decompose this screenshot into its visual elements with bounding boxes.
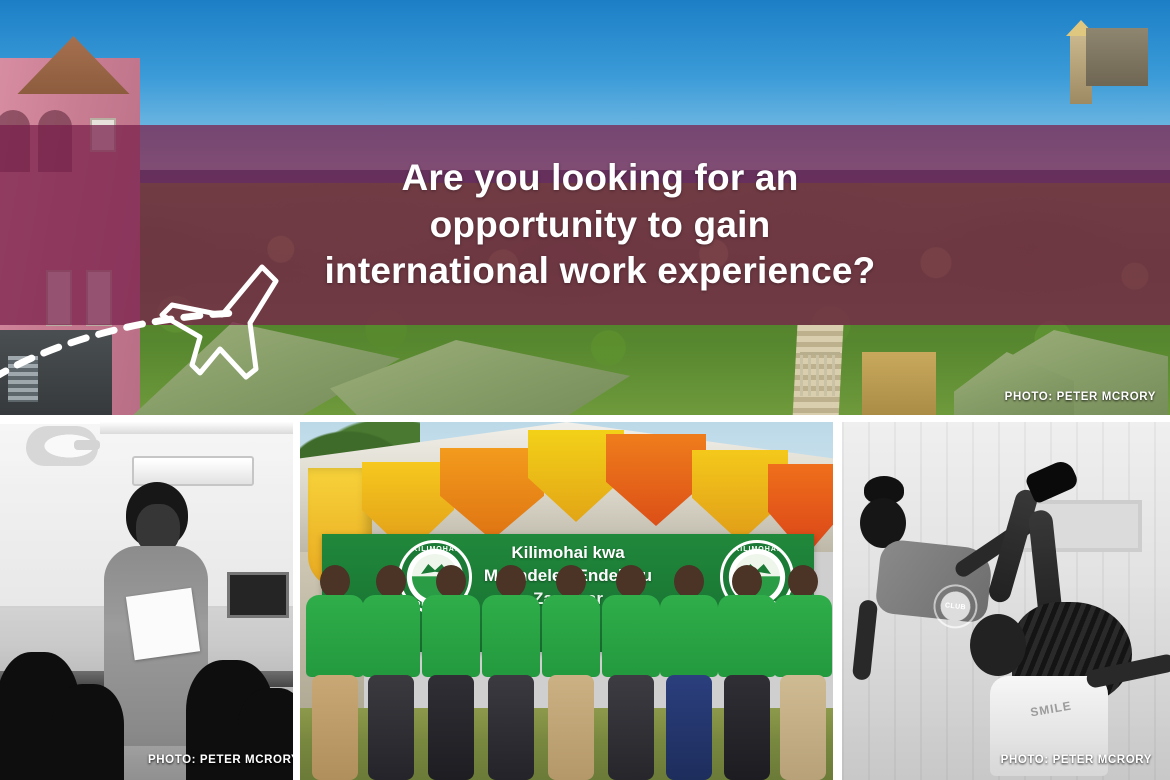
group-member xyxy=(482,565,540,780)
head xyxy=(376,565,406,598)
paper-sheet xyxy=(126,588,200,661)
head xyxy=(674,565,704,598)
green-shirt xyxy=(362,595,420,677)
photo-row: PHOTO: PETER MCRORY Kilimohai kwa Maende… xyxy=(0,422,1170,780)
computer-monitor xyxy=(227,572,289,618)
hero-banner: Are you looking for an opportunity to ga… xyxy=(0,0,1170,415)
logo-top-text: KILIMOHAI xyxy=(723,546,791,553)
trousers xyxy=(608,675,654,780)
student-figure xyxy=(52,684,124,780)
head xyxy=(970,614,1026,676)
head xyxy=(616,565,646,598)
green-shirt xyxy=(542,595,600,677)
head xyxy=(320,565,350,598)
trousers xyxy=(724,675,770,780)
metal-gate xyxy=(800,352,840,396)
trousers xyxy=(368,675,414,780)
headline-line-3: international work experience? xyxy=(325,248,876,295)
classroom-photo-panel: PHOTO: PETER MCRORY xyxy=(0,422,293,780)
airplane-graphic xyxy=(150,253,290,393)
headline-overlay-band: Are you looking for an opportunity to ga… xyxy=(0,125,1170,325)
group-member xyxy=(362,565,420,780)
green-shirt xyxy=(306,595,364,677)
headline-line-2: opportunity to gain xyxy=(430,202,771,249)
promotional-collage: Are you looking for an opportunity to ga… xyxy=(0,0,1170,780)
head xyxy=(732,565,762,598)
green-shirt xyxy=(422,595,480,677)
ceiling-beam xyxy=(100,422,293,434)
skirt xyxy=(548,675,594,780)
trousers xyxy=(780,675,826,780)
yellow-wall xyxy=(862,352,936,415)
acrobatics-photo-panel: CLUB SMILE PHOTO: PETER MCRORY xyxy=(842,422,1170,780)
dashed-flight-path-icon xyxy=(0,305,240,385)
group-member xyxy=(422,565,480,780)
photo-credit: PHOTO: PETER MCRORY xyxy=(1005,391,1156,403)
photo-credit: PHOTO: PETER MCRORY xyxy=(148,754,293,766)
student-figure xyxy=(238,688,293,780)
head xyxy=(556,565,586,598)
trousers xyxy=(666,675,712,780)
trousers xyxy=(488,675,534,780)
group-member xyxy=(542,565,600,780)
hero-headline: Are you looking for an opportunity to ga… xyxy=(280,125,920,325)
trousers xyxy=(428,675,474,780)
wall-fan xyxy=(26,426,98,466)
green-shirt xyxy=(602,595,660,677)
logo-top-text: KILIMOHAI xyxy=(401,546,469,553)
hilltop-structure xyxy=(1086,28,1148,86)
head xyxy=(436,565,466,598)
group-member xyxy=(774,565,832,780)
green-shirt xyxy=(718,595,776,677)
group-member xyxy=(306,565,364,780)
green-shirt xyxy=(774,595,832,677)
group-member xyxy=(602,565,660,780)
head xyxy=(496,565,526,598)
group-member xyxy=(718,565,776,780)
head xyxy=(788,565,818,598)
tank-top-text: SMILE xyxy=(1009,695,1092,723)
green-shirt xyxy=(482,595,540,677)
headline-line-1: Are you looking for an xyxy=(401,155,798,202)
group-photo-panel: Kilimohai kwa Maendeleo Endelevu Zanziba… xyxy=(300,422,833,780)
trousers xyxy=(312,675,358,780)
green-shirt xyxy=(660,595,718,677)
acrobat-lower: SMILE xyxy=(960,590,1170,780)
photo-credit: PHOTO: PETER MCRORY xyxy=(1001,754,1152,766)
group-member xyxy=(660,565,718,780)
